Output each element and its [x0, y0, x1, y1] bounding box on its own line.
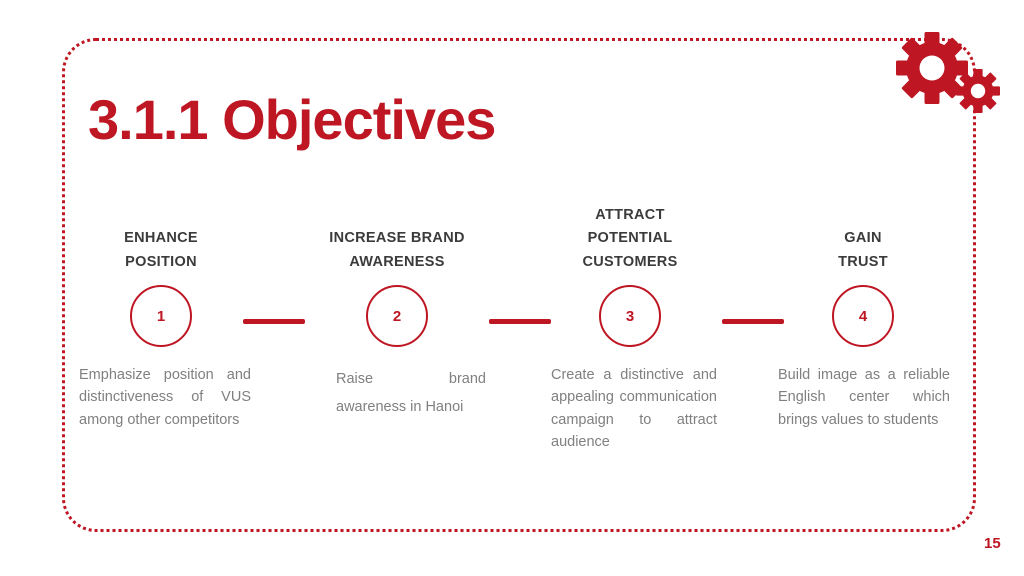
objective-badge-wrap-3: 3: [537, 274, 723, 358]
objective-heading-wrap-1: ENHANCEPOSITION: [68, 198, 254, 274]
objective-badge-wrap-2: 2: [304, 274, 490, 358]
objective-column-2: INCREASE BRANDAWARENESS 2 Raise brand aw…: [304, 198, 490, 422]
page-number: 15: [984, 535, 1001, 552]
objective-heading-4: GAINTRUST: [838, 227, 888, 274]
page-title: 3.1.1 Objectives: [88, 92, 495, 148]
objective-heading-wrap-4: GAINTRUST: [770, 198, 956, 274]
objective-badge-wrap-4: 4: [770, 274, 956, 358]
objective-number-badge-2: 2: [366, 285, 428, 347]
objective-number-badge-4: 4: [832, 285, 894, 347]
objective-heading-1: ENHANCEPOSITION: [124, 227, 198, 274]
objective-description-1: Emphasize position and distinctiveness o…: [79, 364, 251, 431]
objective-number-badge-1: 1: [130, 285, 192, 347]
objective-column-3: ATTRACTPOTENTIALCUSTOMERS 3 Create a dis…: [537, 198, 723, 454]
objective-number-badge-3: 3: [599, 285, 661, 347]
objective-column-1: ENHANCEPOSITION 1 Emphasize position and…: [68, 198, 254, 431]
objective-heading-wrap-2: INCREASE BRANDAWARENESS: [304, 198, 490, 274]
objective-heading-2: INCREASE BRANDAWARENESS: [329, 227, 465, 274]
objective-description-2: Raise brand awareness in Hanoi: [336, 366, 486, 422]
gears-icon: [888, 28, 1008, 118]
slide-canvas: 3.1.1 Objectives ENHANCEPOSITION 1 Empha…: [0, 0, 1024, 576]
objective-heading-wrap-3: ATTRACTPOTENTIALCUSTOMERS: [537, 198, 723, 274]
objective-description-4: Build image as a reliable English center…: [778, 364, 950, 431]
objective-column-4: GAINTRUST 4 Build image as a reliable En…: [770, 198, 956, 431]
objective-heading-3: ATTRACTPOTENTIALCUSTOMERS: [582, 204, 677, 274]
objective-badge-wrap-1: 1: [68, 274, 254, 358]
objective-description-3: Create a distinctive and appealing commu…: [551, 364, 717, 454]
